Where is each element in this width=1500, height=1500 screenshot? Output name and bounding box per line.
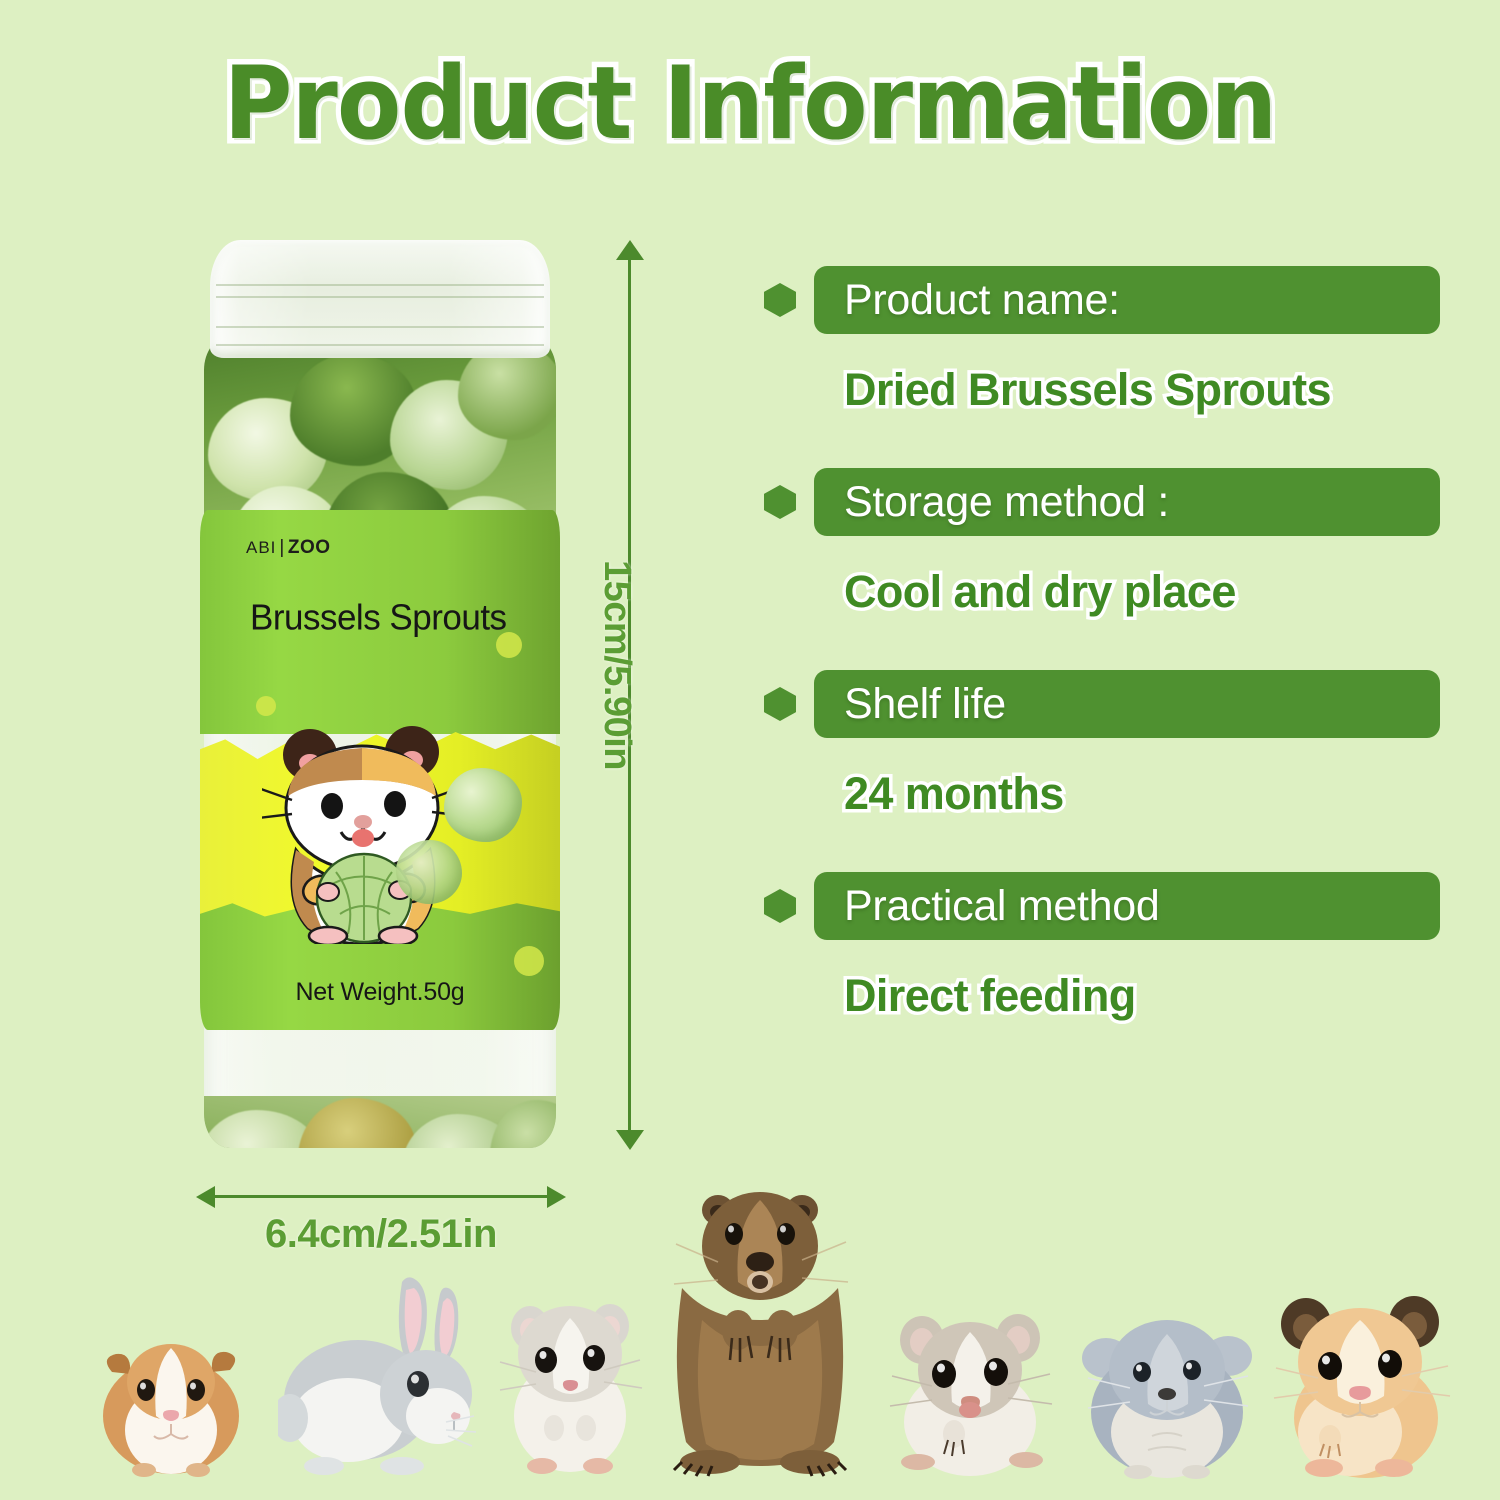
brand-abi-text: ABI [246,538,276,557]
title-bar: Product Information [0,44,1500,162]
mouse-photo [886,1298,1056,1478]
info-block-product-name: Product name: Dried Brussels Sprouts [764,266,1440,416]
page-title: Product Information [224,44,1277,162]
info-label-text: Storage method : [844,478,1169,527]
info-value-text: Direct feeding [844,970,1440,1022]
info-label-text: Shelf life [844,680,1006,729]
info-label-box: Shelf life [814,670,1440,738]
label-net-weight: Net Weight.50g [200,978,560,1007]
dried-sprout [298,1098,416,1148]
hexagon-bullet-icon [764,889,796,923]
label-sprout-decor [444,768,522,842]
prairie-dog-photo [660,1170,860,1480]
dried-sprout [490,1100,556,1148]
product-info-list: Product name: Dried Brussels Sprouts Sto… [764,266,1440,1074]
info-header-row: Product name: [764,266,1440,334]
label-dot [256,696,276,716]
info-header-row: Practical method [764,872,1440,940]
hexagon-bullet-icon [764,687,796,721]
info-label-box: Storage method : [814,468,1440,536]
pet-species-row [0,1170,1500,1500]
info-value-text: 24 months [844,768,1440,820]
info-label-box: Practical method [814,872,1440,940]
info-label-box: Product name: [814,266,1440,334]
guinea-pig-photo [86,1312,256,1480]
lid-ridge [216,326,544,328]
brand-zoo-text: ZOO [288,537,331,558]
arrow-down-icon [616,1130,644,1150]
label-product-name: Brussels Sprouts [250,597,507,639]
lid-ridge [216,296,544,298]
lid-ridge [216,344,544,346]
lid-ridge [216,284,544,286]
info-value-text: Dried Brussels Sprouts [844,364,1440,416]
hexagon-bullet-icon [764,485,796,519]
hamster-mascot-icon [262,722,472,944]
info-header-row: Shelf life [764,670,1440,738]
info-block-storage-method: Storage method : Cool and dry place [764,468,1440,618]
height-dimension-label: 15cm/5.90in [595,560,638,770]
product-jar-figure: ABI|ZOO Brussels Sprouts [196,240,564,1150]
hexagon-bullet-icon [764,283,796,317]
rabbit-photo [278,1270,478,1480]
gerbil-photo [496,1276,646,1476]
jar-lid [210,240,550,358]
info-block-shelf-life: Shelf life 24 months [764,670,1440,820]
brand-logo: ABI|ZOO [246,537,331,559]
jar-contents-bottom [204,1096,556,1148]
info-header-row: Storage method : [764,468,1440,536]
info-block-practical-method: Practical method Direct feeding [764,872,1440,1022]
brand-separator: | [279,537,284,558]
info-label-text: Practical method [844,882,1159,931]
info-label-text: Product name: [844,276,1120,325]
hamster-photo [1268,1286,1453,1482]
label-sprout-decor [396,840,462,904]
jar-product-label: ABI|ZOO Brussels Sprouts [200,510,560,1030]
label-dot [514,946,544,976]
info-value-text: Cool and dry place [844,566,1440,618]
chinchilla-photo [1080,1300,1255,1480]
